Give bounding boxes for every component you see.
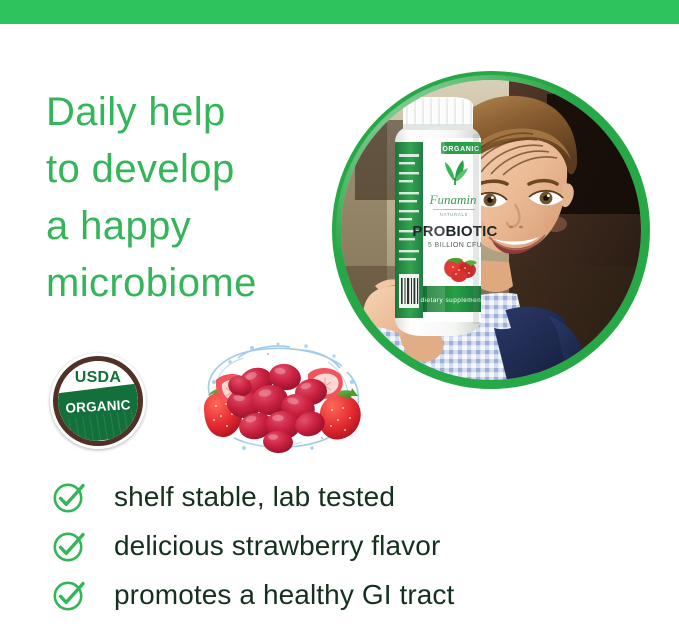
list-item: delicious strawberry flavor xyxy=(52,521,652,570)
check-circle-icon xyxy=(52,578,86,612)
feature-list: shelf stable, lab tested delicious straw… xyxy=(52,472,652,619)
product-infographic: Daily help to develop a happy microbiome… xyxy=(0,0,679,632)
photo-image: ORGANIC Funamin NATURALS PROBIOTIC 5 BI xyxy=(341,80,641,380)
check-circle-icon xyxy=(52,480,86,514)
headline-line-2: to develop xyxy=(46,141,336,198)
list-item: promotes a healthy GI tract xyxy=(52,570,652,619)
usda-organic-seal-icon: USDA ORGANIC xyxy=(50,353,146,449)
page-title: Daily help to develop a happy microbiome xyxy=(46,84,336,312)
usda-seal-ring: USDA ORGANIC xyxy=(53,356,143,446)
usda-seal-inner: USDA ORGANIC xyxy=(58,361,138,441)
headline-line-3: a happy xyxy=(46,198,336,255)
list-item-label: delicious strawberry flavor xyxy=(114,530,440,562)
list-item: shelf stable, lab tested xyxy=(52,472,652,521)
list-item-label: shelf stable, lab tested xyxy=(114,481,395,513)
list-item-label: promotes a healthy GI tract xyxy=(114,579,454,611)
svg-text:PROBIOTIC: PROBIOTIC xyxy=(412,223,497,240)
check-circle-icon xyxy=(52,529,86,563)
top-accent-bar xyxy=(0,0,679,24)
headline-line-4: microbiome xyxy=(46,255,336,312)
product-photo: ORGANIC Funamin NATURALS PROBIOTIC 5 BI xyxy=(332,71,650,389)
usda-label: USDA xyxy=(58,369,138,387)
headline-line-1: Daily help xyxy=(46,84,336,141)
